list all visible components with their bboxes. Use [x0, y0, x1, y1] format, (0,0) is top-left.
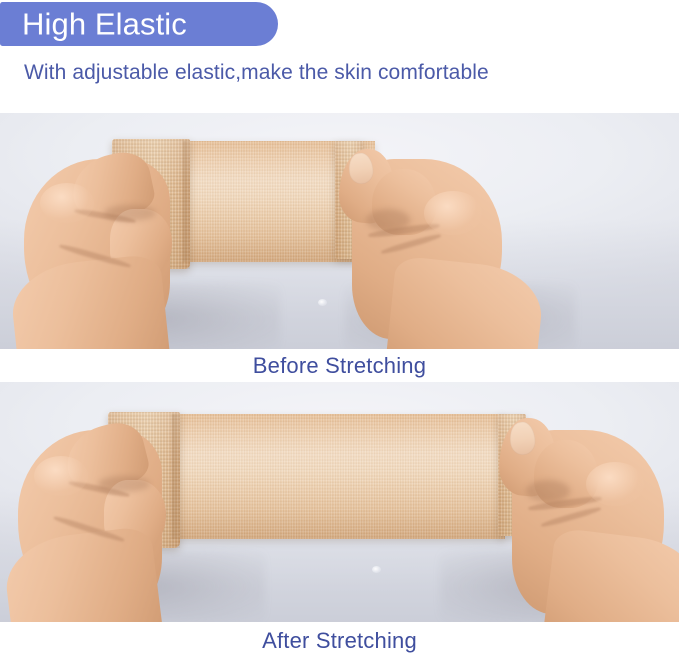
caption-before-stretching: Before Stretching: [0, 349, 679, 377]
left-knuckle-before: [40, 183, 94, 223]
right-thumb-shadow-after: [526, 480, 570, 502]
caption-band-after: After Stretching: [0, 622, 679, 657]
subtitle-text: With adjustable elastic,make the skin co…: [24, 61, 489, 85]
left-thumb-shadow-after: [98, 476, 150, 492]
bandage-seam-before: [183, 141, 190, 262]
right-forearm-after: [541, 527, 679, 622]
badge-label: High Elastic: [22, 9, 187, 40]
caption-band-before: Before Stretching: [0, 349, 679, 382]
photo-after: [0, 382, 679, 622]
photo-panel-after: [0, 382, 679, 622]
right-knuckle-before: [424, 191, 482, 235]
photo-panel-before: [0, 113, 679, 349]
infographic-page: High Elastic With adjustable elastic,mak…: [0, 0, 679, 657]
left-thumb-shadow-before: [104, 205, 156, 221]
right-thumb-shadow-before: [366, 209, 410, 231]
table-speck-before: [318, 299, 327, 306]
bandage-seam-after: [172, 414, 180, 539]
caption-after-stretching: After Stretching: [0, 622, 679, 652]
photo-before: [0, 113, 679, 349]
high-elastic-badge: High Elastic: [0, 2, 278, 46]
right-knuckle-after: [586, 462, 644, 506]
right-forearm-before: [384, 255, 546, 349]
left-knuckle-after: [34, 456, 88, 496]
table-speck-after: [372, 566, 381, 573]
bandage-strip-after: [175, 414, 505, 539]
